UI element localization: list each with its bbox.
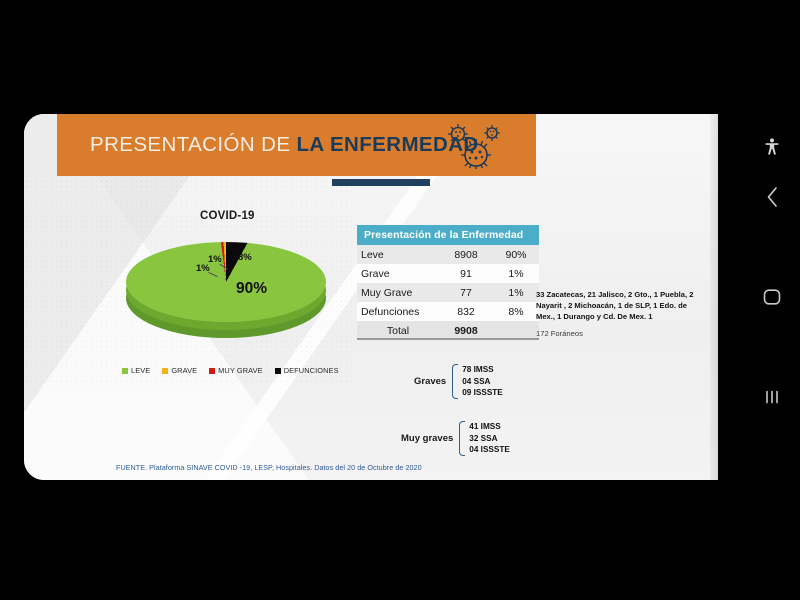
muy-graves-item: 41 IMSS: [469, 421, 510, 433]
cell-count: 8908: [439, 245, 493, 264]
cell-pct: 1%: [493, 264, 539, 283]
legend-label-grave: GRAVE: [171, 366, 197, 375]
muy-graves-bracket-icon: [457, 421, 465, 456]
screen: PRESENTACIÓN DE LA ENFERMEDAD: [0, 0, 800, 600]
pie-label-defunciones: 8%: [238, 252, 252, 263]
cell-count: 77: [439, 283, 493, 302]
muy-graves-items: 41 IMSS 32 SSA 04 ISSSTE: [469, 421, 510, 456]
cell-pct: 8%: [493, 302, 539, 321]
coronavirus-icon: [436, 122, 518, 170]
accessibility-icon[interactable]: [744, 132, 800, 162]
graves-group: Graves 78 IMSS 04 SSA 09 ISSSTE: [414, 364, 503, 399]
foreigners-note: 172 Foráneos: [536, 329, 583, 338]
table-row: Grave 91 1%: [357, 264, 539, 283]
cell-label: Grave: [357, 264, 439, 283]
graves-item: 04 SSA: [462, 376, 503, 388]
cell-pct: 1%: [493, 283, 539, 302]
graves-label: Graves: [414, 376, 446, 387]
table-row: Defunciones 832 8%: [357, 302, 539, 321]
android-nav-bar: [744, 0, 800, 600]
pie-legend: LEVE GRAVE MUY GRAVE DEFUNCIONES: [122, 366, 339, 375]
state-distribution-note: 33 Zacatecas, 21 Jalisco, 2 Gto., 1 Pueb…: [536, 290, 708, 322]
table-row: Muy Grave 77 1%: [357, 283, 539, 302]
title-accent-rule: [332, 179, 430, 186]
graves-item: 78 IMSS: [462, 364, 503, 376]
cell-count: 832: [439, 302, 493, 321]
legend-swatch-grave: [162, 368, 168, 374]
legend-item-defunciones: DEFUNCIONES: [275, 366, 339, 375]
cell-count: 91: [439, 264, 493, 283]
muy-graves-item: 04 ISSSTE: [469, 444, 510, 456]
source-footnote: FUENTE. Plataforma SINAVE COVID -19, LES…: [116, 463, 422, 472]
pie-3d-top: [126, 242, 326, 322]
cell-label: Leve: [357, 245, 439, 264]
legend-swatch-defunciones: [275, 368, 281, 374]
slide-title-light: PRESENTACIÓN DE: [90, 133, 297, 156]
muy-graves-item: 32 SSA: [469, 433, 510, 445]
slide-title: PRESENTACIÓN DE LA ENFERMEDAD: [90, 133, 479, 157]
graves-bracket-icon: [450, 364, 458, 399]
cell-label: Muy Grave: [357, 283, 439, 302]
legend-swatch-muy-grave: [209, 368, 215, 374]
slide-right-edge: [710, 114, 718, 480]
legend-label-muy-grave: MUY GRAVE: [218, 366, 263, 375]
cell-pct: 90%: [493, 245, 539, 264]
graves-item: 09 ISSSTE: [462, 387, 503, 399]
pie-label-leve: 90%: [236, 280, 267, 298]
home-icon[interactable]: [744, 282, 800, 312]
pie-chart: 90% 8% 1% 1%: [118, 236, 336, 356]
recents-icon[interactable]: [744, 382, 800, 412]
table-bottom-rule: [357, 338, 539, 340]
slide-header-bar: PRESENTACIÓN DE LA ENFERMEDAD: [57, 114, 536, 176]
graves-items: 78 IMSS 04 SSA 09 ISSSTE: [462, 364, 503, 399]
cell-label: Defunciones: [357, 302, 439, 321]
enfermedad-table: Presentación de la Enfermedad Leve 8908 …: [357, 225, 539, 340]
legend-label-leve: LEVE: [131, 366, 150, 375]
legend-item-muy-grave: MUY GRAVE: [209, 366, 263, 375]
table-row: Leve 8908 90%: [357, 245, 539, 264]
legend-swatch-leve: [122, 368, 128, 374]
table-header-row: Presentación de la Enfermedad: [357, 225, 539, 245]
legend-item-leve: LEVE: [122, 366, 150, 375]
muy-graves-label: Muy graves: [401, 433, 453, 444]
presentation-slide[interactable]: PRESENTACIÓN DE LA ENFERMEDAD: [24, 114, 718, 480]
pie-chart-title: COVID-19: [200, 210, 255, 222]
table-header-title: Presentación de la Enfermedad: [357, 225, 539, 245]
pie-chart-block: COVID-19 90% 8% 1% 1% LEVE GRAVE MUY GRA…: [108, 210, 358, 390]
legend-item-grave: GRAVE: [162, 366, 197, 375]
muy-graves-group: Muy graves 41 IMSS 32 SSA 04 ISSSTE: [401, 421, 510, 456]
legend-label-defunciones: DEFUNCIONES: [284, 366, 339, 375]
back-icon[interactable]: [744, 182, 800, 212]
